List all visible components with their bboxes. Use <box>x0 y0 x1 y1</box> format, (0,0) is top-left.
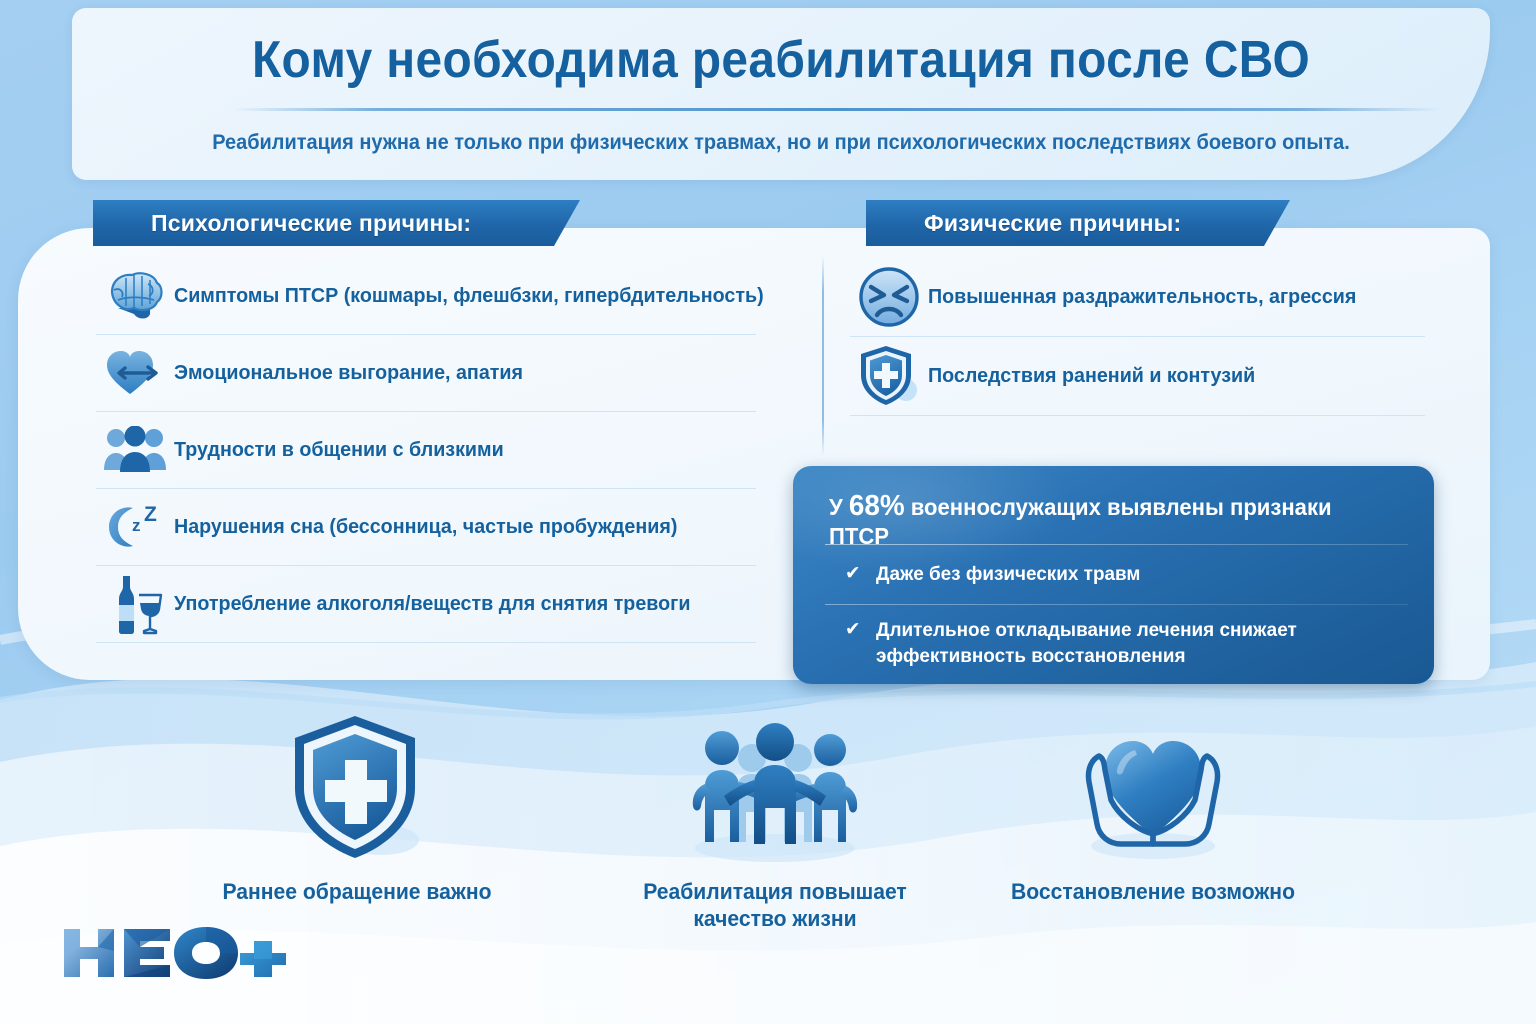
svg-text:Z: Z <box>144 503 157 526</box>
check-icon: ✔ <box>845 618 876 642</box>
list-item: Последствия ранений и контузий <box>850 337 1425 416</box>
list-item: Употребление алкоголя/веществ для снятия… <box>96 566 756 643</box>
section-header-physical: Физические причины: <box>866 200 1290 246</box>
stat-headline-prefix: У <box>829 494 849 520</box>
callout-divider-2 <box>825 604 1408 605</box>
list-item: Повышенная раздражительность, агрессия <box>850 258 1425 337</box>
callout-list-item: ✔ Длительное откладывание лечения снижае… <box>845 618 1393 669</box>
page-subtitle: Реабилитация нужна не только при физичес… <box>107 131 1454 155</box>
page-title: Кому необходима реабилитация после СВО <box>129 30 1434 90</box>
bottle-glass-icon <box>96 573 174 635</box>
header-card: Кому необходима реабилитация после СВО Р… <box>72 8 1490 180</box>
list-item-label: Нарушения сна (бессонница, частые пробуж… <box>174 515 677 539</box>
section-header-psychological-label: Психологические причины: <box>151 210 471 237</box>
feature-early-help: Раннее обращение важно <box>207 712 507 905</box>
section-header-psychological: Психологические причины: <box>93 200 580 246</box>
shield-cross-large-icon <box>207 712 507 862</box>
feature-quality-of-life: Реабилитация повышает качество жизни <box>625 712 925 933</box>
hands-heart-icon <box>1003 712 1303 862</box>
title-divider <box>232 108 1442 111</box>
stat-callout: У 68% военнослужащих выявлены признаки П… <box>793 466 1434 684</box>
list-item-label: Эмоциональное выгорание, апатия <box>174 361 523 385</box>
feature-label: Раннее обращение важно <box>213 878 501 905</box>
heart-burnout-icon <box>96 346 174 400</box>
section-header-physical-label: Физические причины: <box>924 210 1181 237</box>
column-divider <box>822 256 824 456</box>
angry-face-icon <box>850 265 928 329</box>
list-item-label: Последствия ранений и контузий <box>928 364 1255 388</box>
list-item-label: Симптомы ПТСР (кошмары, флешбзки, гиперб… <box>174 284 764 308</box>
infographic-canvas: Кому необходима реабилитация после СВО Р… <box>0 0 1536 1024</box>
callout-list-item-label: Длительное откладывание лечения снижает … <box>876 618 1393 669</box>
svg-text:z: z <box>132 516 141 535</box>
shield-cross-icon <box>850 343 928 409</box>
stat-value: 68% <box>849 490 905 522</box>
brand-logo <box>58 921 288 983</box>
people-group-icon <box>96 426 174 474</box>
stat-headline: У 68% военнослужащих выявлены признаки П… <box>829 490 1385 550</box>
callout-divider <box>825 544 1408 545</box>
physical-causes-list: Повышенная раздражительность, агрессия П… <box>850 258 1425 416</box>
moon-sleep-icon: z Z <box>96 501 174 553</box>
list-item-label: Трудности в общении с близкими <box>174 438 504 462</box>
list-item: Трудности в общении с близкими <box>96 412 756 489</box>
list-item-label: Повышенная раздражительность, агрессия <box>928 285 1356 309</box>
list-item: z Z Нарушения сна (бессонница, частые пр… <box>96 489 756 566</box>
psychological-causes-list: Симптомы ПТСР (кошмары, флешбзки, гиперб… <box>96 258 756 643</box>
list-item-label: Употребление алкоголя/веществ для снятия… <box>174 592 690 616</box>
feature-recovery-possible: Восстановление возможно <box>1003 712 1303 905</box>
logo-neo-plus-icon <box>58 921 288 983</box>
feature-label: Восстановление возможно <box>1009 878 1297 905</box>
callout-list-item-label: Даже без физических травм <box>876 562 1140 588</box>
list-item: Эмоциональное выгорание, апатия <box>96 335 756 412</box>
people-team-icon <box>625 712 925 862</box>
list-item: Симптомы ПТСР (кошмары, флешбзки, гиперб… <box>96 258 756 335</box>
brain-icon <box>96 270 174 322</box>
feature-label: Реабилитация повышает качество жизни <box>631 878 919 933</box>
callout-list-item: ✔ Даже без физических травм <box>845 562 1393 588</box>
check-icon: ✔ <box>845 562 876 586</box>
